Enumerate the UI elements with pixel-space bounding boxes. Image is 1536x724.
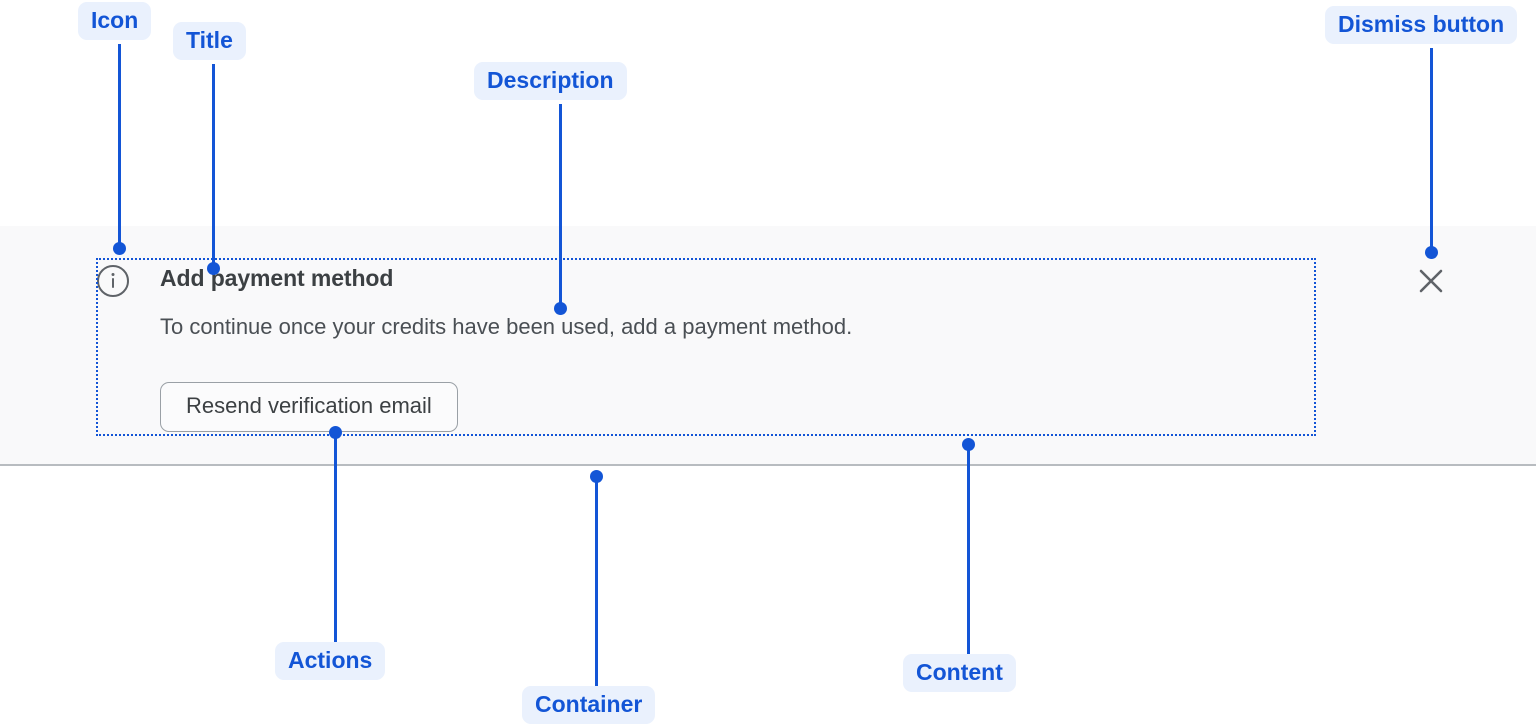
- annotation-line-icon: [118, 44, 121, 248]
- annotation-line-container: [595, 476, 598, 688]
- banner-description: To continue once your credits have been …: [160, 314, 852, 340]
- annotation-label-description: Description: [474, 62, 627, 100]
- annotation-label-actions: Actions: [275, 642, 385, 680]
- annotation-line-dismiss-button: [1430, 48, 1433, 252]
- banner-title: Add payment method: [160, 265, 393, 292]
- close-icon[interactable]: [1414, 264, 1448, 298]
- annotation-label-title: Title: [173, 22, 246, 60]
- annotation-dot-container: [590, 470, 603, 483]
- banner-content: Add payment method To continue once your…: [96, 258, 1316, 436]
- banner-container: Add payment method To continue once your…: [0, 226, 1536, 466]
- annotation-label-container: Container: [522, 686, 655, 724]
- banner-actions: Resend verification email: [160, 382, 458, 432]
- annotation-line-content: [967, 444, 970, 656]
- annotation-label-dismiss-button: Dismiss button: [1325, 6, 1517, 44]
- annotation-label-icon: Icon: [78, 2, 151, 40]
- info-circle-icon: [96, 264, 130, 298]
- annotation-label-content: Content: [903, 654, 1016, 692]
- resend-verification-email-button[interactable]: Resend verification email: [160, 382, 458, 432]
